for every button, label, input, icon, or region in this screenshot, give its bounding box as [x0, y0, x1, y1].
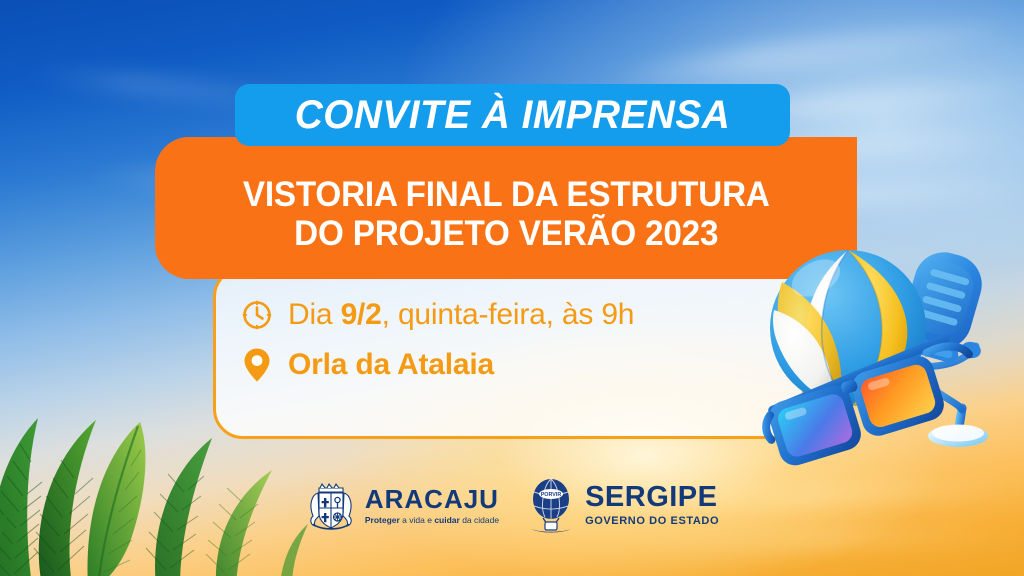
event-details: Dia 9/2, quinta-feira, às 9h Orla da Ata… — [240, 296, 634, 384]
press-invite-banner: CONVITE À IMPRENSA — [235, 84, 790, 146]
tagline-mid-1: a vida e — [400, 515, 435, 525]
sergipe-logo: PORVIR SERGIPE GOVERNO DO ESTADO — [525, 478, 719, 534]
aracaju-coat-of-arms-icon — [305, 480, 357, 532]
banner-label: CONVITE À IMPRENSA — [295, 93, 731, 138]
aracaju-logo: ARACAJU Proteger a vida e cuidar da cida… — [305, 480, 499, 532]
detail-date-text: Dia 9/2, quinta-feira, às 9h — [288, 298, 634, 332]
detail-row-date: Dia 9/2, quinta-feira, às 9h — [240, 296, 634, 334]
map-pin-icon — [240, 346, 274, 384]
tagline-bold-2: cuidar — [434, 515, 460, 525]
poster-canvas: VISTORIA FINAL DA ESTRUTURA DO PROJETO V… — [0, 0, 1024, 576]
tagline-bold-1: Proteger — [365, 515, 400, 525]
sergipe-balloon-icon: PORVIR — [525, 478, 577, 534]
sergipe-wordmark: SERGIPE GOVERNO DO ESTADO — [585, 483, 719, 528]
date-suffix: , quinta-feira, às 9h — [382, 298, 635, 331]
summer-artwork — [762, 238, 1024, 488]
sergipe-name: SERGIPE — [585, 483, 719, 512]
clock-icon — [240, 296, 274, 334]
headline-line-1: VISTORIA FINAL DA ESTRUTURA — [243, 175, 770, 214]
aracaju-name: ARACAJU — [365, 486, 499, 512]
aracaju-wordmark: ARACAJU Proteger a vida e cuidar da cida… — [365, 486, 499, 525]
aracaju-tagline: Proteger a vida e cuidar da cidade — [365, 515, 499, 525]
tagline-mid-2: da cidade — [460, 515, 499, 525]
balloon-motto: PORVIR — [541, 492, 562, 498]
date-emphasis: 9/2 — [341, 298, 382, 331]
detail-row-location: Orla da Atalaia — [240, 346, 634, 384]
headline-block: VISTORIA FINAL DA ESTRUTURA DO PROJETO V… — [155, 137, 857, 279]
detail-location-text: Orla da Atalaia — [288, 348, 494, 382]
sergipe-subtitle: GOVERNO DO ESTADO — [585, 515, 719, 528]
date-prefix: Dia — [288, 298, 341, 331]
headline-line-2: DO PROJETO VERÃO 2023 — [294, 214, 718, 253]
